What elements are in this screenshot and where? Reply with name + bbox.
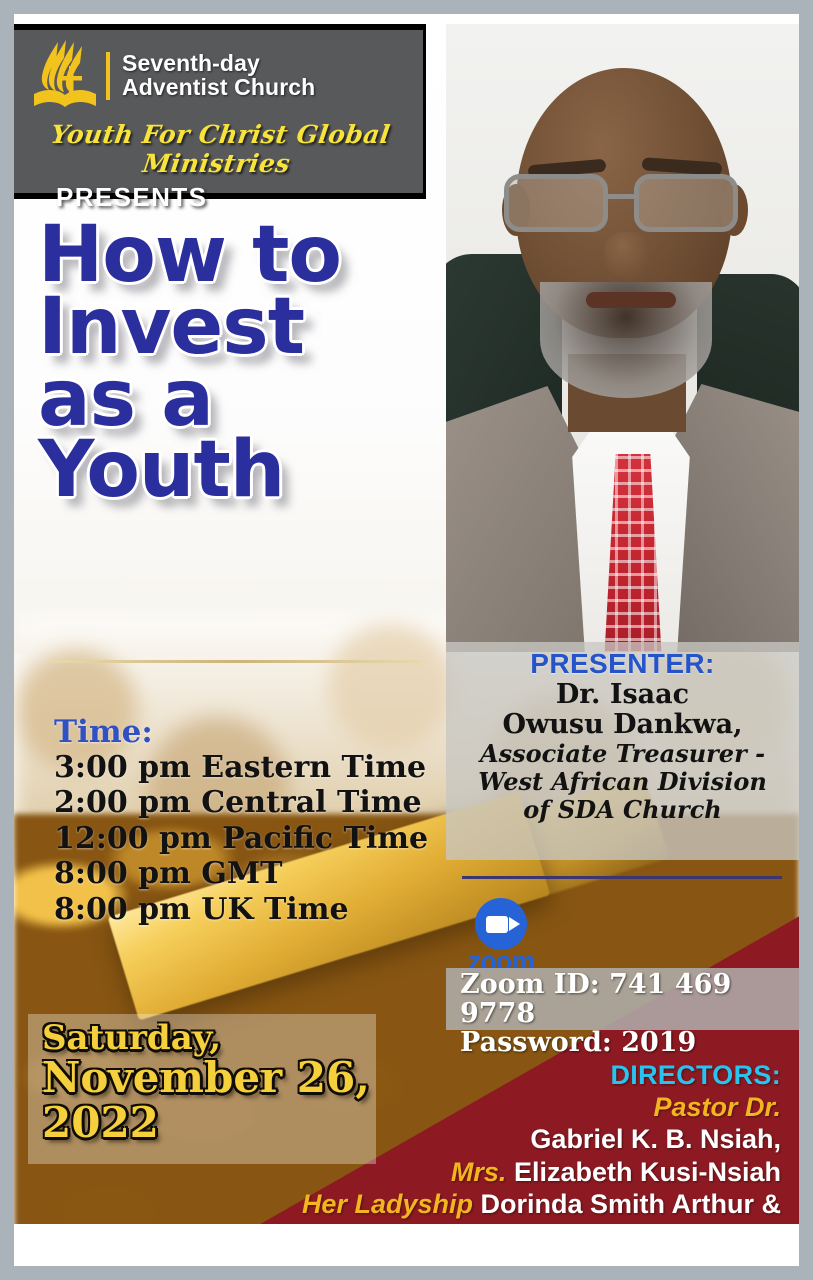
zoom-video-camera-icon [475, 898, 527, 950]
poster-canvas: Seventh-day Adventist Church Youth For C… [14, 14, 799, 1266]
director-title: Pastor Dr. [653, 1092, 781, 1122]
director-entry: Mrs. Elizabeth Kusi-Nsiah [261, 1156, 781, 1188]
presenter-photo [446, 24, 799, 652]
director-entry: Gabriel K. B. Nsiah, [261, 1123, 781, 1155]
zoom-password: Password: 2019 [460, 1028, 799, 1057]
directors-label: DIRECTORS: [261, 1060, 781, 1091]
church-name-line2: Adventist Church [122, 76, 315, 100]
time-entry: 2:00 pm Central Time [54, 785, 454, 820]
photo-lens-right [634, 174, 738, 232]
date-line-1: Saturday, [42, 1020, 392, 1056]
flyer-poster: Seventh-day Adventist Church Youth For C… [0, 0, 813, 1280]
gold-divider [52, 660, 422, 663]
time-label: Time: [54, 714, 454, 750]
presenter-name-line2: Owusu Dankwa, [446, 710, 799, 740]
director-title: Her Ladyship [302, 1189, 473, 1219]
church-name-line1: Seventh-day [122, 52, 315, 76]
time-entry: 12:00 pm Pacific Time [54, 821, 454, 856]
presenter-role-line1: Associate Treasurer - [446, 740, 799, 768]
director-name: Elizabeth Kusi-Nsiah [514, 1157, 781, 1187]
title-line-1: How to [38, 220, 438, 292]
header-block: Seventh-day Adventist Church Youth For C… [14, 24, 426, 199]
photo-lens-left [504, 174, 608, 232]
presenter-role-line3: of SDA Church [446, 796, 799, 824]
page-title: How to Invest as a Youth [38, 220, 438, 507]
director-title: Mrs. [451, 1157, 507, 1187]
navy-divider [462, 876, 782, 879]
title-line-4: Youth [38, 435, 438, 507]
title-line-2: Invest [38, 292, 438, 364]
presenter-role-line2: West African Division [446, 768, 799, 796]
time-entry: 8:00 pm UK Time [54, 892, 454, 927]
zoom-logo: zoom [458, 898, 544, 976]
presents-label: PRESENTS [14, 182, 423, 213]
director-name: Gabriel K. B. Nsiah, [530, 1124, 781, 1154]
director-entry: Her Ladyship Dorinda Smith Arthur & [261, 1188, 781, 1220]
time-entry: 8:00 pm GMT [54, 856, 454, 891]
church-name: Seventh-day Adventist Church [106, 52, 315, 100]
time-block: Time: 3:00 pm Eastern Time 2:00 pm Centr… [54, 714, 454, 927]
presenter-block: PRESENTER: Dr. Isaac Owusu Dankwa, Assoc… [446, 642, 799, 860]
ministry-name: Youth For Christ Global Ministries [14, 120, 427, 178]
time-entry: 3:00 pm Eastern Time [54, 750, 454, 785]
presenter-label: PRESENTER: [446, 648, 799, 680]
camera-glyph [486, 916, 508, 933]
photo-mouth [586, 292, 676, 308]
photo-nose [604, 232, 650, 278]
director-entry: Pastor Dr. [261, 1091, 781, 1123]
zoom-id: Zoom ID: 741 469 9778 [460, 970, 799, 1028]
presenter-name-line1: Dr. Isaac [446, 680, 799, 710]
sda-flame-book-logo-icon [28, 36, 102, 116]
bottom-white-strip [14, 1224, 799, 1266]
church-identity-row: Seventh-day Adventist Church [14, 36, 423, 116]
zoom-credentials-panel: Zoom ID: 741 469 9778 Password: 2019 [446, 968, 799, 1030]
photo-eyeglasses [502, 174, 754, 236]
director-name: Dorinda Smith Arthur & [481, 1189, 782, 1219]
